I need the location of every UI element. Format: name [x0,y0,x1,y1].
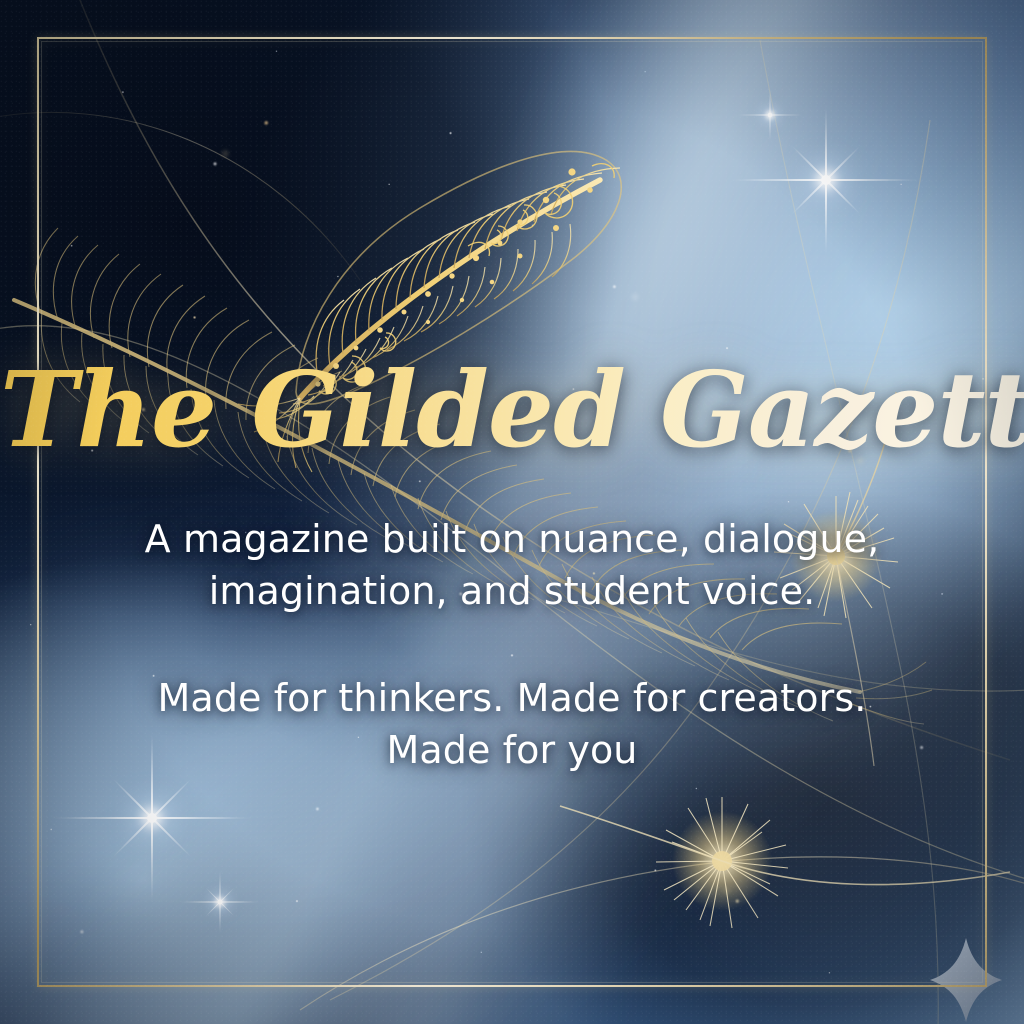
poster-canvas: The Gilded Gazette A magazine built on n… [0,0,1024,1024]
motto-block: Made for thinkers. Made for creators. Ma… [100,672,924,776]
motto-line-1: Made for thinkers. Made for creators. [100,672,924,724]
gold-frame-inner-border [41,41,983,983]
page-title: The Gilded Gazette [0,358,1024,462]
tagline-text: A magazine built on nuance, dialogue, im… [118,513,906,617]
motto-line-2: Made for you [100,724,924,776]
